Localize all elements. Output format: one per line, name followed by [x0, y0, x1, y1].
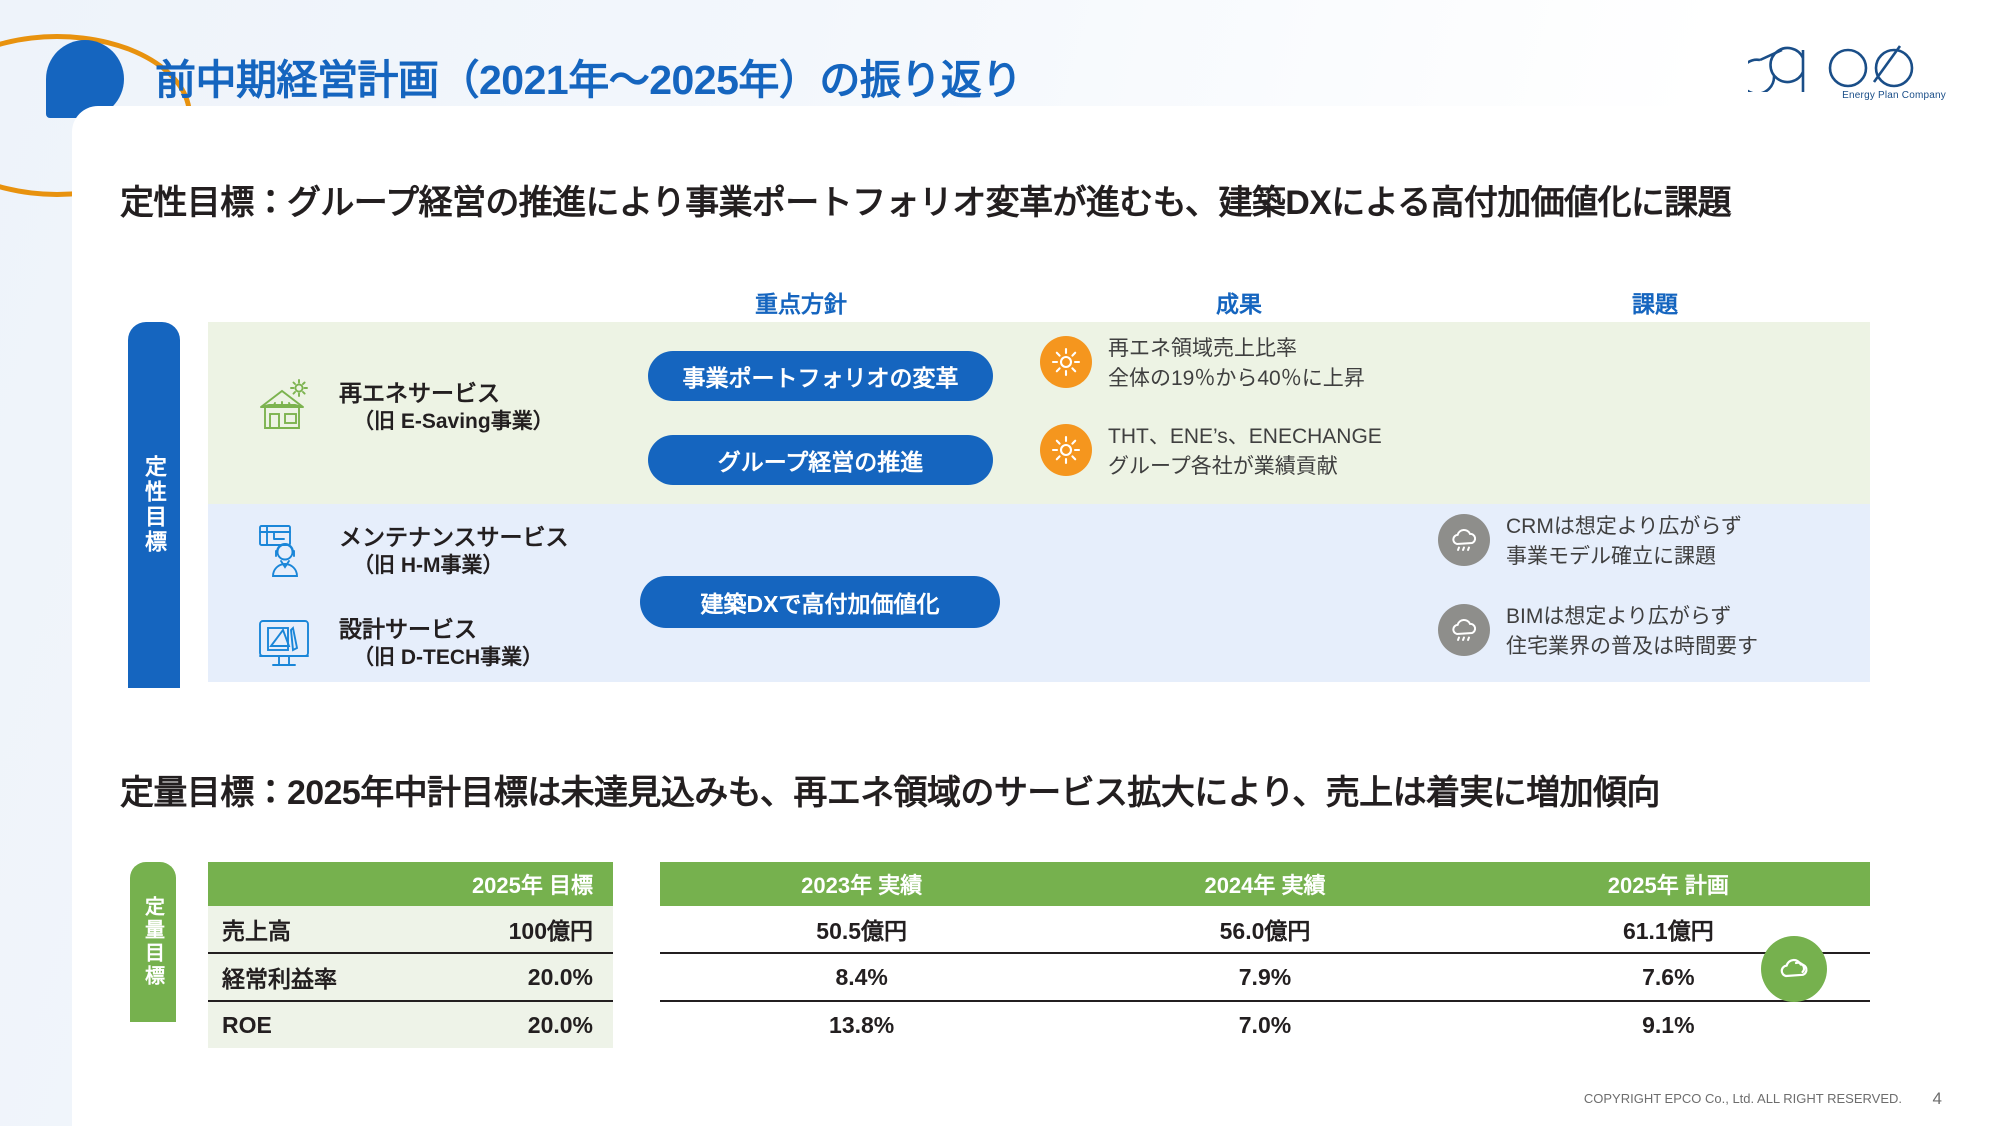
service-row-design: 設計サービス （旧 D-TECH事業） — [245, 604, 543, 682]
table-row: 13.8% 7.0% 9.1% — [660, 1001, 1870, 1048]
table-row: 経常利益率 20.0% — [208, 953, 613, 1001]
result-item-1: 再エネ領域売上比率 全体の19％から40％に上昇 — [1040, 334, 1365, 394]
side-tab-quantitative: 定量目標 — [130, 862, 176, 1022]
table-row: ROE 20.0% — [208, 1001, 613, 1048]
target-header-2025: 2025年 目標 — [403, 862, 613, 906]
table-header-row: 2023年 実績 2024年 実績 2025年 計画 — [660, 862, 1870, 906]
cell-margin-2023: 8.4% — [660, 953, 1063, 1001]
policy-pill-portfolio[interactable]: 事業ポートフォリオの変革 — [648, 351, 993, 401]
service-label-group: 設計サービス （旧 D-TECH事業） — [339, 615, 543, 671]
sun-icon — [1040, 336, 1092, 388]
metric-label: ROE — [208, 1001, 403, 1048]
cell-roe-2023: 13.8% — [660, 1001, 1063, 1048]
actual-header-2025: 2025年 計画 — [1467, 862, 1870, 906]
column-header-policy: 重点方針 — [755, 285, 847, 319]
table-header-row: 2025年 目標 — [208, 862, 613, 906]
footer-copyright: COPYRIGHT EPCO Co., Ltd. ALL RIGHT RESER… — [1584, 1091, 1902, 1106]
table-row: 売上高 100億円 — [208, 906, 613, 953]
cell-roe-2024: 7.0% — [1063, 1001, 1466, 1048]
result-text-block: THT、ENE’s、ENECHANGE グループ各社が業績貢献 — [1108, 422, 1382, 482]
issue-line-2: 住宅業界の普及は時間要す — [1506, 632, 1758, 662]
column-header-result: 成果 — [1216, 285, 1262, 319]
policy-pill-group-management[interactable]: グループ経営の推進 — [648, 435, 993, 485]
service-row-maintenance: メンテナンスサービス （旧 H-M事業） — [245, 512, 569, 590]
service-name: 再エネサービス — [339, 379, 554, 408]
qualitative-heading: 定性目標：グループ経営の推進により事業ポートフォリオ変革が進むも、建築DXによる… — [120, 175, 1731, 224]
result-line-1: THT、ENE’s、ENECHANGE — [1108, 422, 1382, 452]
quantitative-heading: 定量目標：2025年中計目標は未達見込みも、再エネ領域のサービス拡大により、売上… — [120, 765, 1660, 814]
issue-line-1: BIMは想定より広がらず — [1506, 602, 1758, 632]
policy-pill-construction-dx[interactable]: 建築DXで高付加価値化 — [640, 576, 1000, 628]
service-row-renewable: 再エネサービス （旧 E-Saving事業） — [245, 368, 554, 446]
actual-plan-table: 2023年 実績 2024年 実績 2025年 計画 50.5億円 56.0億円… — [660, 862, 1870, 1048]
service-subname: （旧 H-M事業） — [339, 552, 569, 579]
issue-line-2: 事業モデル確立に課題 — [1506, 542, 1742, 572]
target-header-blank — [208, 862, 403, 906]
cad-monitor-icon — [245, 604, 323, 682]
service-subname: （旧 D-TECH事業） — [339, 644, 543, 671]
service-subname: （旧 E-Saving事業） — [339, 408, 554, 435]
cloud-icon — [1761, 936, 1827, 1002]
metric-value: 100億円 — [403, 906, 613, 953]
column-header-issue: 課題 — [1632, 285, 1678, 319]
cell-margin-2024: 7.9% — [1063, 953, 1466, 1001]
page-title: 前中期経営計画（2021年～2025年）の振り返り — [155, 46, 1022, 106]
side-tab-qualitative: 定性目標 — [128, 322, 180, 688]
metric-label: 売上高 — [208, 906, 403, 953]
table-row: 8.4% 7.9% 7.6% — [660, 953, 1870, 1001]
target-table: 2025年 目標 売上高 100億円 経常利益率 20.0% ROE 20.0% — [208, 862, 613, 1048]
result-item-2: THT、ENE’s、ENECHANGE グループ各社が業績貢献 — [1040, 422, 1382, 482]
issue-line-1: CRMは想定より広がらず — [1506, 512, 1742, 542]
result-line-1: 再エネ領域売上比率 — [1108, 334, 1365, 364]
metric-value: 20.0% — [403, 953, 613, 1001]
result-text-block: 再エネ領域売上比率 全体の19％から40％に上昇 — [1108, 334, 1365, 394]
result-line-2: グループ各社が業績貢献 — [1108, 452, 1382, 482]
service-name: メンテナンスサービス — [339, 523, 569, 552]
cell-revenue-2023: 50.5億円 — [660, 906, 1063, 953]
issue-item-1: CRMは想定より広がらず 事業モデル確立に課題 — [1438, 512, 1742, 572]
logo-tagline: Energy Plan Company — [1842, 90, 1946, 101]
cell-roe-2025: 9.1% — [1467, 1001, 1870, 1048]
rain-cloud-icon — [1438, 604, 1490, 656]
actual-header-2023: 2023年 実績 — [660, 862, 1063, 906]
solar-house-icon — [245, 368, 323, 446]
issue-text-block: CRMは想定より広がらず 事業モデル確立に課題 — [1506, 512, 1742, 572]
support-agent-icon — [245, 512, 323, 590]
metric-label: 経常利益率 — [208, 953, 403, 1001]
epco-logo: Energy Plan Company — [1748, 30, 1948, 102]
actual-header-2024: 2024年 実績 — [1063, 862, 1466, 906]
issue-text-block: BIMは想定より広がらず 住宅業界の普及は時間要す — [1506, 602, 1758, 662]
service-label-group: 再エネサービス （旧 E-Saving事業） — [339, 379, 554, 435]
table-row: 50.5億円 56.0億円 61.1億円 — [660, 906, 1870, 953]
slide-root: 前中期経営計画（2021年～2025年）の振り返り Energy Plan Co… — [0, 0, 2000, 1126]
result-line-2: 全体の19％から40％に上昇 — [1108, 364, 1365, 394]
metric-value: 20.0% — [403, 1001, 613, 1048]
issue-item-2: BIMは想定より広がらず 住宅業界の普及は時間要す — [1438, 602, 1758, 662]
rain-cloud-icon — [1438, 514, 1490, 566]
service-label-group: メンテナンスサービス （旧 H-M事業） — [339, 523, 569, 579]
page-number: 4 — [1933, 1089, 1942, 1109]
sun-icon — [1040, 424, 1092, 476]
cell-revenue-2024: 56.0億円 — [1063, 906, 1466, 953]
service-name: 設計サービス — [339, 615, 543, 644]
